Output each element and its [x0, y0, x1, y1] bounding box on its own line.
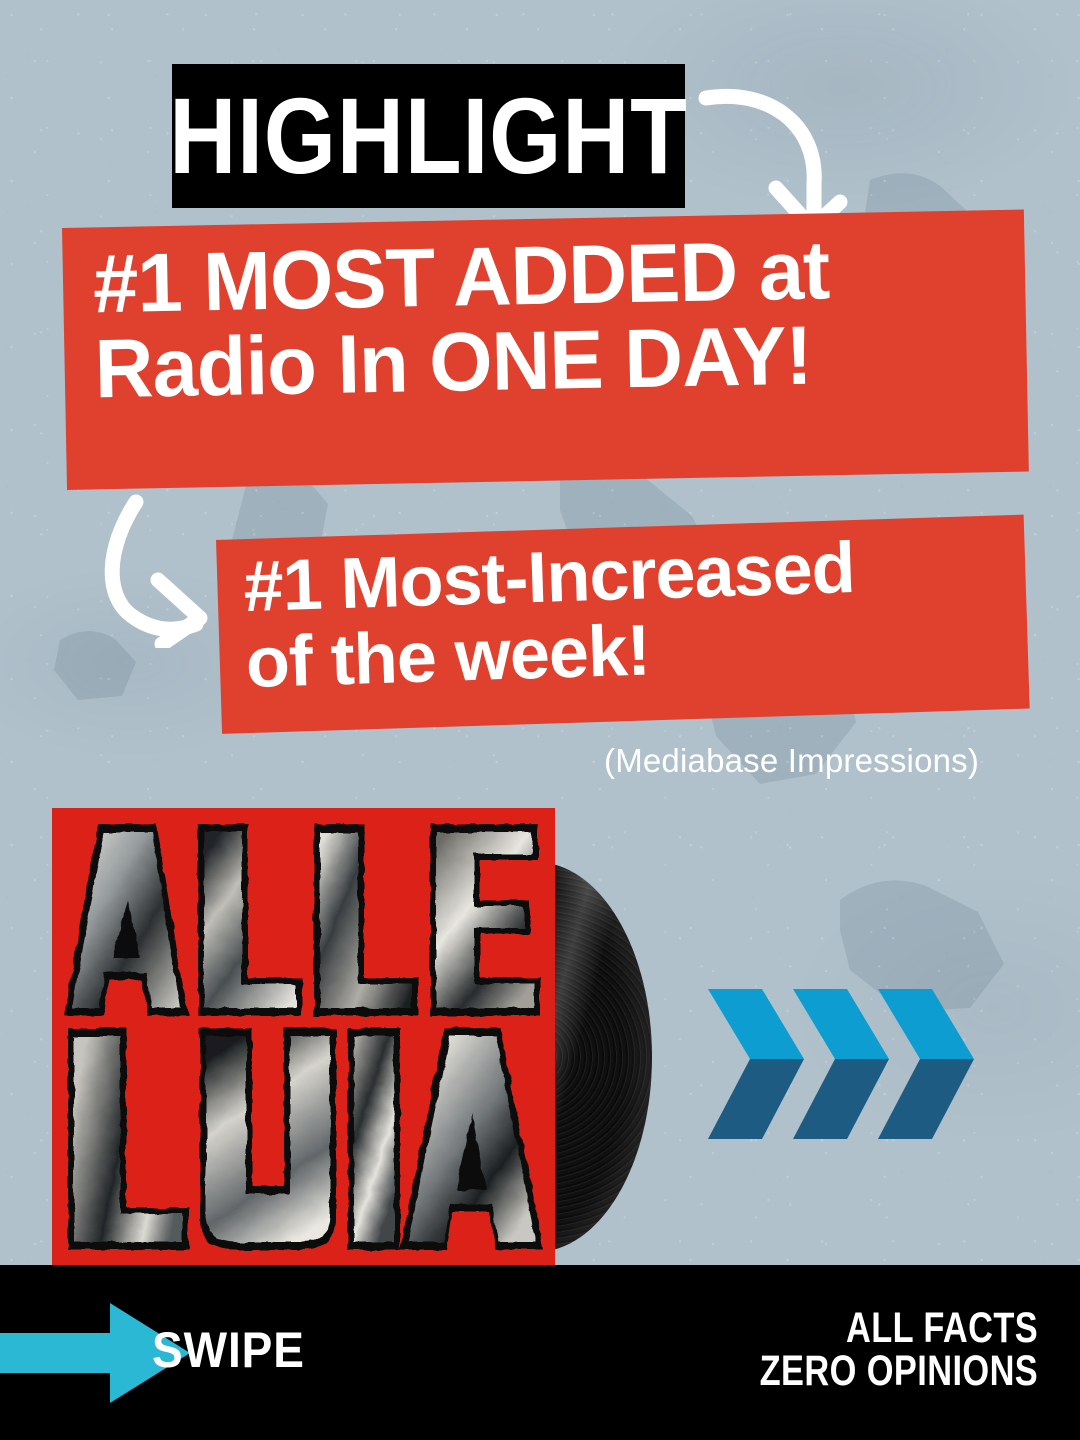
headline-banner-secondary: #1 Most-Increased of the week! — [216, 515, 1030, 734]
tagline-line-2: ZERO OPINIONS — [759, 1350, 1038, 1393]
headline-banner-primary: #1 MOST ADDED at Radio In ONE DAY! — [62, 210, 1029, 490]
banner1-line2: Radio In ONE DAY! — [94, 310, 997, 413]
source-note: (Mediabase Impressions) — [604, 742, 979, 780]
brand-tagline: ALL FACTS ZERO OPINIONS — [690, 1307, 1038, 1393]
chevron-right-icon — [700, 975, 980, 1153]
highlight-badge: HIGHLIGHT — [172, 64, 685, 208]
bottom-bar: SWIPE ALL FACTS ZERO OPINIONS — [0, 1265, 1080, 1440]
highlight-badge-label: HIGHLIGHT — [169, 82, 688, 190]
swipe-label[interactable]: SWIPE — [152, 1321, 305, 1379]
headline-banner-primary-text: #1 MOST ADDED at Radio In ONE DAY! — [92, 224, 997, 412]
headline-banner-secondary-text: #1 Most-Increased of the week! — [242, 525, 1026, 702]
album-cover-letters — [52, 808, 555, 1265]
tagline-line-1: ALL FACTS — [759, 1307, 1038, 1350]
album-cover-art — [52, 808, 555, 1265]
curved-arrow-down-left-icon — [96, 492, 220, 648]
